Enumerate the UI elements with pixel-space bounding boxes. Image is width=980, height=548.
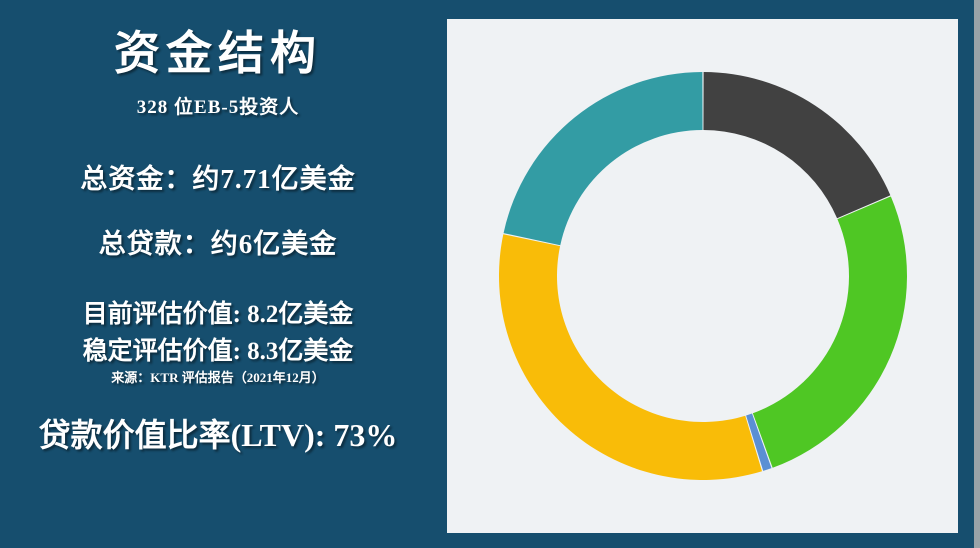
total-capital-line: 总资金：约7.71亿美金 [0,157,436,196]
page-title: 资金结构 [0,28,436,80]
summary-panel: 资金结构 328 位EB-5投资人 总资金：约7.71亿美金 总贷款：约6亿美金… [0,0,436,548]
ltv-line: 贷款价值比率(LTV): 73% [0,410,436,456]
chart-card: 高级贷款 $143,290,592 18% C-PACE $200,000,00… [447,19,958,533]
total-loan-line: 总贷款：约6亿美金 [0,222,436,261]
donut-slice-3[interactable] [499,234,762,480]
donut-slice-group [499,72,907,480]
donut-chart [447,19,958,533]
source-note: 来源：KTR 评估报告（2021年12月） [0,367,436,386]
right-edge-strip [974,0,980,548]
investor-count-subtitle: 328 位EB-5投资人 [0,92,436,119]
donut-slice-1[interactable] [753,196,907,467]
donut-slice-4[interactable] [504,72,703,245]
donut-slice-0[interactable] [703,72,890,218]
stabilized-appraised-value-line: 稳定评估价值: 8.3亿美金 [0,331,436,367]
donut-chart-svg [447,19,958,533]
slide-root: 资金结构 328 位EB-5投资人 总资金：约7.71亿美金 总贷款：约6亿美金… [0,0,980,548]
current-appraised-value-line: 目前评估价值: 8.2亿美金 [0,294,436,330]
